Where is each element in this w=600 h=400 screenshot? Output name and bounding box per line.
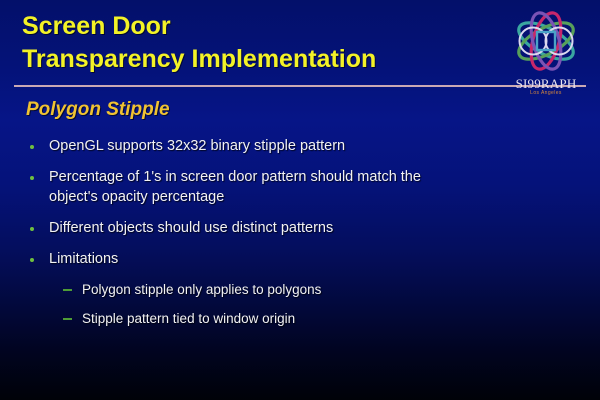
sub-bullet-text: Polygon stipple only applies to polygons [82, 280, 321, 299]
sub-bullet-item: Stipple pattern tied to window origin [30, 309, 576, 328]
bullet-text: OpenGL supports 32x32 binary stipple pat… [49, 136, 345, 156]
bullet-dot-icon [30, 227, 34, 231]
sub-bullet-dash-icon [63, 318, 72, 320]
sub-bullet-text: Stipple pattern tied to window origin [82, 309, 295, 328]
bullet-item: Percentage of 1's in screen door pattern… [30, 167, 576, 207]
siggraph-logo: SI99RAPH Los Angeles [498, 4, 594, 104]
slide-title-line-1: Screen Door [22, 10, 492, 43]
presentation-slide: Screen Door Transparency Implementation … [0, 0, 600, 400]
slide-title-line-2: Transparency Implementation [22, 43, 492, 76]
bullet-dot-icon [30, 176, 34, 180]
siggraph-wordmark-text: SI99RAPH [516, 76, 577, 91]
sub-bullet-dash-icon [63, 289, 72, 291]
bullet-dot-icon [30, 258, 34, 262]
bullet-text: Limitations [49, 249, 118, 269]
sub-bullet-item: Polygon stipple only applies to polygons [30, 280, 576, 299]
bullet-text-line: object's opacity percentage [49, 187, 421, 207]
slide-title: Screen Door Transparency Implementation [22, 10, 492, 76]
slide-subtitle: Polygon Stipple [26, 99, 170, 121]
slide-body: OpenGL supports 32x32 binary stipple pat… [30, 136, 576, 338]
bullet-text: Different objects should use distinct pa… [49, 218, 333, 238]
bullet-item: OpenGL supports 32x32 binary stipple pat… [30, 136, 576, 156]
bullet-item: Limitations [30, 249, 576, 269]
bullet-text: Percentage of 1's in screen door pattern… [49, 167, 421, 207]
bullet-text-line: Percentage of 1's in screen door pattern… [49, 167, 421, 187]
bullet-dot-icon [30, 145, 34, 149]
siggraph-rings-icon [498, 4, 594, 78]
bullet-item: Different objects should use distinct pa… [30, 218, 576, 238]
siggraph-city-label: Los Angeles [498, 90, 594, 96]
